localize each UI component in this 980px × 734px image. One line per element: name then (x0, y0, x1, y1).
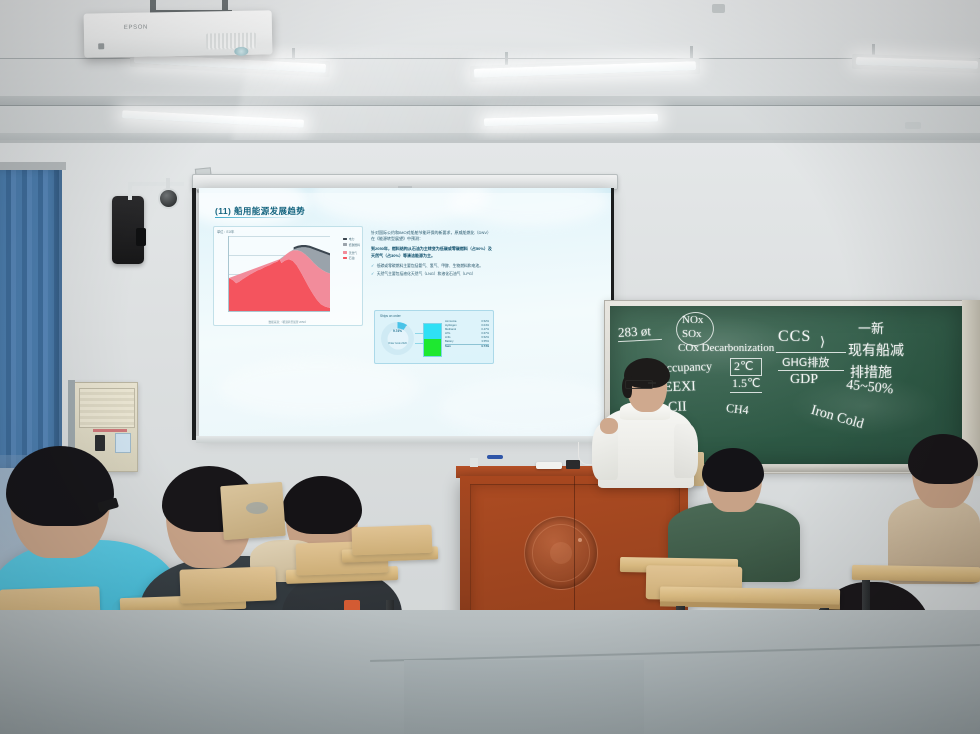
board-note: CH4 (725, 401, 749, 418)
slide-bullet-text: 低碳或零碳燃料主要包括氨气、氢气、甲醇、生物燃料和电池。 (377, 264, 483, 270)
screen-bottom-bar (196, 436, 614, 443)
stacked-bar-segment-green (424, 339, 441, 356)
podium-device[interactable] (536, 462, 562, 469)
board-note: GHG排放 (782, 354, 829, 370)
cabinet-warning-strip (93, 429, 127, 432)
microphone-base[interactable] (566, 460, 580, 469)
ceiling-sensor (712, 4, 725, 13)
board-note: SOx (682, 328, 702, 340)
legend-item: 电力 (343, 237, 360, 241)
board-note: 一新 (858, 318, 884, 337)
projector-brand-label: EPSON (124, 25, 148, 31)
slide-cloud (219, 358, 419, 418)
donut-connector (415, 343, 423, 344)
podium-screw (578, 538, 582, 542)
cabinet-label (115, 433, 131, 453)
wall-trim (0, 140, 980, 143)
camera-mount (166, 178, 170, 190)
legend-label: 低碳燃料 (349, 243, 360, 247)
chart-legend: 电力 低碳燃料 天然气 石油 (343, 237, 360, 262)
dome-security-camera (158, 188, 179, 209)
order-fuel-row-sum: Sum 9.74% (445, 344, 489, 349)
board-note: GDP (790, 372, 818, 388)
chair-back[interactable] (352, 525, 433, 556)
board-note: NOx (682, 314, 703, 326)
projector-vent (206, 33, 256, 50)
speaker-mount-arm (128, 182, 184, 186)
title-underline (215, 217, 299, 218)
slide-cloud (439, 378, 611, 436)
check-icon: ✓ (371, 272, 374, 278)
donut-connector (415, 333, 423, 334)
chart-plot-area: 20 15 10 5 0 1990 1995 2000 201 (228, 236, 330, 312)
check-icon: ✓ (371, 264, 374, 270)
board-note: 283 øt (618, 323, 652, 341)
chart-y-axis-label: 单位：EJ/年 (217, 229, 234, 234)
chart-source-caption: 数据来源：《能源转型展望 2050》 (214, 320, 362, 324)
slide-highlight: 到2050年，燃料结构从石油为主转变为低碳或零碳燃料（占50%）及天然气（占30… (371, 246, 493, 258)
podium-item[interactable] (470, 458, 478, 467)
slide-body-text: 针对国际公约和IMO对船舶节能环保的新要求，原威船燃化（DNV）在《能源转型展望… (371, 230, 493, 281)
order-panel-title: Ships on order (380, 314, 401, 318)
board-underline (776, 352, 846, 353)
order-fuel-row: Battery 3.55% (445, 340, 489, 344)
board-note: COx Decarbonization (678, 342, 774, 354)
order-fuel-list: Ammonia 0.52% Hydrogen 0.04% Methanol 0.… (445, 320, 489, 349)
window-curtain (0, 168, 62, 468)
slide-bullet-text: 天然气主要包括液化天然气（LNG）和液化石油气（LPG） (377, 272, 476, 278)
chair-back[interactable] (179, 566, 276, 603)
legend-label: 石油 (349, 256, 355, 260)
projector-lens (234, 47, 248, 56)
student-right-green-hair (702, 448, 764, 492)
university-seal-emblem (524, 516, 598, 590)
floor-front (404, 660, 644, 734)
energy-area-chart: 单位：EJ/年 20 15 10 5 0 1990 1995 (213, 226, 363, 326)
slide-bullet: ✓ 天然气主要包括液化天然气（LNG）和液化石油气（LPG） (371, 272, 493, 278)
board-note: 排措施 (850, 362, 892, 382)
order-donut-chart: 9.74% Order book 2020 (381, 322, 414, 355)
presentation-slide: (11) 船用能源发展趋势 单位：EJ/年 20 15 10 5 0 (199, 188, 611, 436)
slide-cloud (449, 188, 609, 226)
legend-swatch (343, 238, 347, 241)
board-note: 1.5℃ (732, 376, 760, 391)
lecturer-arm-right (674, 424, 698, 478)
classroom-scene: EPSON (11) 船用能源发展趋势 单位：E (0, 0, 980, 734)
bag-print (246, 502, 268, 514)
cabinet-shutter[interactable] (79, 388, 135, 428)
slide-title: (11) 船用能源发展趋势 (215, 205, 305, 217)
gridline: 0 (229, 311, 330, 312)
legend-item: 低碳燃料 (343, 243, 360, 247)
fuel-stacked-bar (423, 323, 442, 357)
legend-item: 天然气 (343, 251, 360, 255)
speaker-bracket (136, 228, 146, 246)
fuel-value: 3.55% (481, 340, 489, 344)
projector: EPSON (84, 10, 273, 57)
slide-paragraph: 针对国际公约和IMO对船舶节能环保的新要求，原威船燃化（DNV）在《能源转型展望… (371, 230, 493, 242)
donut-caption: Order book 2020 (381, 342, 414, 345)
ships-on-order-panel: Ships on order 9.74% Order book 2020 Amm… (374, 310, 494, 364)
board-note: 2℃ (734, 359, 753, 374)
board-note: 现有船减 (848, 340, 904, 360)
podium-marker[interactable] (487, 455, 503, 459)
cabinet-socket[interactable] (95, 435, 105, 451)
screen-rail-left (192, 188, 196, 440)
curtain-rail (0, 162, 66, 170)
board-note: ⟩ (820, 334, 825, 350)
projection-screen[interactable]: (11) 船用能源发展趋势 单位：EJ/年 20 15 10 5 0 (199, 188, 611, 436)
legend-swatch (343, 251, 347, 254)
board-underline (730, 392, 762, 393)
donut-percent-label: 9.74% (381, 329, 414, 333)
glasses-bridge (648, 382, 656, 384)
fuel-label: Battery (445, 340, 454, 344)
legend-swatch (343, 257, 347, 260)
chart-series-svg (229, 236, 330, 311)
lecturer-hand (600, 418, 618, 434)
legend-label: 天然气 (349, 251, 357, 255)
fuel-value: 9.74% (481, 345, 489, 349)
board-underline (778, 370, 844, 371)
fuel-label: Sum (445, 345, 451, 349)
legend-swatch (343, 243, 347, 246)
board-note: CCS (778, 328, 811, 346)
legend-item: 石油 (343, 256, 360, 260)
ceiling-vent (905, 122, 921, 129)
slide-bullet: ✓ 低碳或零碳燃料主要包括氨气、氢气、甲醇、生物燃料和电池。 (371, 264, 493, 270)
stacked-bar-segment-cyan (424, 324, 441, 339)
speaker-mount-arm (128, 182, 132, 200)
seal-center (550, 542, 572, 564)
desk-top[interactable] (852, 565, 980, 582)
legend-label: 电力 (349, 237, 355, 241)
projector-port (98, 43, 104, 49)
